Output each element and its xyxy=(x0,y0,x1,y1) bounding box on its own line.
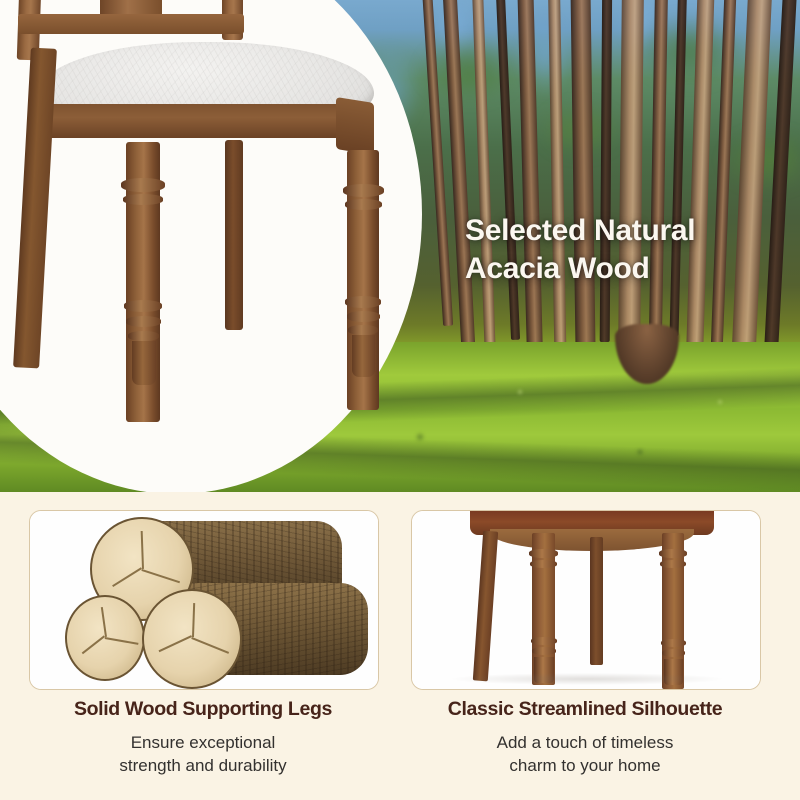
chair-leg-turning-ring xyxy=(128,331,159,341)
table-leg-turning-ring xyxy=(660,560,686,568)
chair-leg-turning-ring xyxy=(343,184,384,197)
table-leg-back-left xyxy=(473,531,498,682)
table-leg-turning-ring xyxy=(532,647,556,655)
log-crack xyxy=(141,531,144,569)
table-leg-turning-ring xyxy=(661,639,686,647)
feature-subtitle-line-1: Add a touch of timeless xyxy=(411,731,759,754)
logs-image xyxy=(30,511,378,689)
product-feature-page: Selected Natural Acacia Wood xyxy=(0,0,800,800)
log-crack xyxy=(105,637,139,645)
chair-leg-turning-ring xyxy=(347,311,380,322)
chair-leg-back-left xyxy=(13,48,57,369)
log-crack xyxy=(101,607,107,637)
table-leg-turning-ring xyxy=(531,637,557,645)
log-crack xyxy=(112,567,142,587)
headline-line-1: Selected Natural xyxy=(465,212,785,250)
table-leg-turning-ring xyxy=(530,560,557,568)
feature-subtitle-line-2: charm to your home xyxy=(411,754,759,777)
log-cut-end-small xyxy=(65,595,145,681)
chair-leg-turning-ring xyxy=(126,316,161,327)
chair-seat-apron-front xyxy=(42,104,372,138)
table-leg-turning-ring xyxy=(659,549,687,558)
chair-leg-turning-ring xyxy=(121,178,165,192)
feature-title: Classic Streamlined Silhouette xyxy=(411,698,759,721)
feature-caption-logs: Solid Wood Supporting Legs Ensure except… xyxy=(29,698,377,778)
chair-leg-foot xyxy=(352,335,375,377)
chair-leg-turning-ring xyxy=(345,296,381,308)
feature-subtitle-line-2: strength and durability xyxy=(29,754,377,777)
chair-leg-back-right xyxy=(225,140,243,330)
table-leg-turning-ring xyxy=(662,649,685,657)
log-crack xyxy=(141,569,180,583)
feature-caption-table: Classic Streamlined Silhouette Add a tou… xyxy=(411,698,759,778)
features-section: Solid Wood Supporting Legs Ensure except… xyxy=(0,492,800,800)
chair-leg-turning-ring xyxy=(124,300,162,312)
chair-back-rail xyxy=(18,14,244,34)
feature-title: Solid Wood Supporting Legs xyxy=(29,698,377,721)
feature-card-table xyxy=(411,510,761,690)
hero-section: Selected Natural Acacia Wood xyxy=(0,0,800,492)
chair-leg-turning-ring xyxy=(348,325,378,335)
chair-leg-turning-ring xyxy=(123,194,163,205)
feature-subtitle: Ensure exceptional strength and durabili… xyxy=(29,731,377,778)
log-crack xyxy=(159,635,192,652)
log-cut-end-lower xyxy=(142,589,242,689)
log-crack xyxy=(191,637,229,654)
chair-leg-turning-ring xyxy=(345,199,382,210)
feature-subtitle-line-1: Ensure exceptional xyxy=(29,731,377,754)
feature-card-logs xyxy=(29,510,379,690)
log-crack xyxy=(82,635,105,654)
chair-seat-apron-side xyxy=(336,97,374,155)
tree-trunk xyxy=(618,0,644,374)
headline-line-2: Acacia Wood xyxy=(465,250,785,288)
log-crack xyxy=(192,603,195,637)
table-image xyxy=(412,511,760,689)
table-leg-back-right xyxy=(590,537,603,665)
chair-leg-foot xyxy=(132,341,156,385)
chair-product-image xyxy=(0,0,440,492)
hero-headline: Selected Natural Acacia Wood xyxy=(465,212,785,289)
table-floor-shadow xyxy=(452,673,722,685)
feature-subtitle: Add a touch of timeless charm to your ho… xyxy=(411,731,759,778)
table-leg-turning-ring xyxy=(529,549,558,558)
